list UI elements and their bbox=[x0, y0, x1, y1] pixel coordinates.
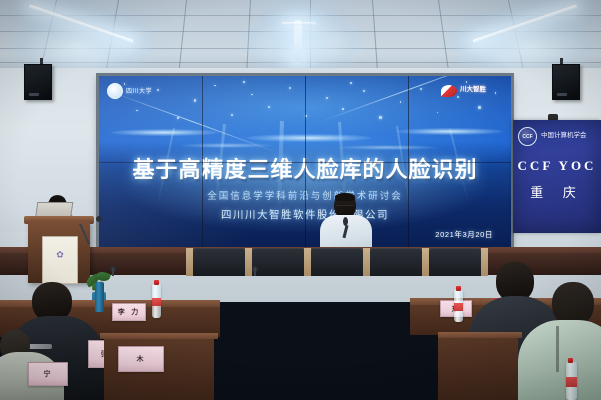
ccf-org-name: 中国计算机学会 bbox=[541, 132, 587, 140]
head-table-chair bbox=[252, 248, 304, 276]
ccf-seal-icon: CCF bbox=[518, 127, 537, 146]
head-table-chair bbox=[311, 248, 363, 276]
ceiling-light-glow-center bbox=[238, 8, 368, 72]
screen-right-logo: 川大智胜 bbox=[441, 81, 505, 100]
head-table-chair bbox=[429, 248, 481, 276]
name-placard: 木 bbox=[118, 346, 164, 372]
presentation-video-wall: 四川大学 川大智胜 基于高精度三维人脸库的人脸识别 全国信息学学科前沿与创新学术… bbox=[99, 76, 511, 248]
lectern-logo-icon: ✿ bbox=[56, 250, 64, 261]
ceiling-tube-light-center bbox=[294, 20, 302, 62]
screen-right-logo-text: 川大智胜 bbox=[460, 87, 486, 94]
ccf-banner-headline: CCF YOC bbox=[513, 158, 601, 174]
audience-desk-top-row2-left bbox=[100, 333, 218, 339]
water-bottle bbox=[454, 290, 463, 322]
conference-hall-photo: 四川大学 川大智胜 基于高精度三维人脸库的人脸识别 全国信息学学科前沿与创新学术… bbox=[0, 0, 601, 400]
wall-speaker-right bbox=[552, 64, 580, 100]
audience-desk-row2-right bbox=[438, 336, 518, 400]
lectern-skirt: ✿ bbox=[42, 236, 78, 284]
water-bottle bbox=[152, 284, 161, 318]
company-swoosh-icon bbox=[441, 85, 457, 97]
placard-text: 李 力 bbox=[118, 307, 140, 317]
audience-desk-top-row2-right bbox=[438, 332, 522, 338]
lectern-microphone-icon bbox=[96, 216, 102, 222]
ccf-banner-city: 重 庆 bbox=[513, 182, 601, 201]
placard-text: 宁 bbox=[44, 369, 53, 379]
slide-date: 2021年3月20日 bbox=[435, 229, 493, 240]
ceiling bbox=[0, 0, 601, 72]
ccf-banner: CCF 中国计算机学会 CCF YOC 重 庆 bbox=[513, 120, 601, 233]
screen-left-logo-text: 四川大学 bbox=[126, 86, 152, 95]
head-table-chair bbox=[193, 248, 245, 276]
thermos-bottle bbox=[95, 282, 104, 312]
wall-speaker-left bbox=[24, 64, 52, 100]
water-bottle bbox=[566, 362, 577, 400]
name-placard: 李 力 bbox=[112, 303, 146, 321]
university-seal-icon bbox=[107, 83, 123, 99]
ccf-banner-header: CCF 中国计算机学会 bbox=[518, 127, 587, 146]
name-placard: 宁 bbox=[28, 362, 68, 386]
placard-text: 木 bbox=[137, 354, 146, 364]
screen-left-logo: 四川大学 bbox=[107, 82, 181, 99]
head-table-chair bbox=[370, 248, 422, 276]
